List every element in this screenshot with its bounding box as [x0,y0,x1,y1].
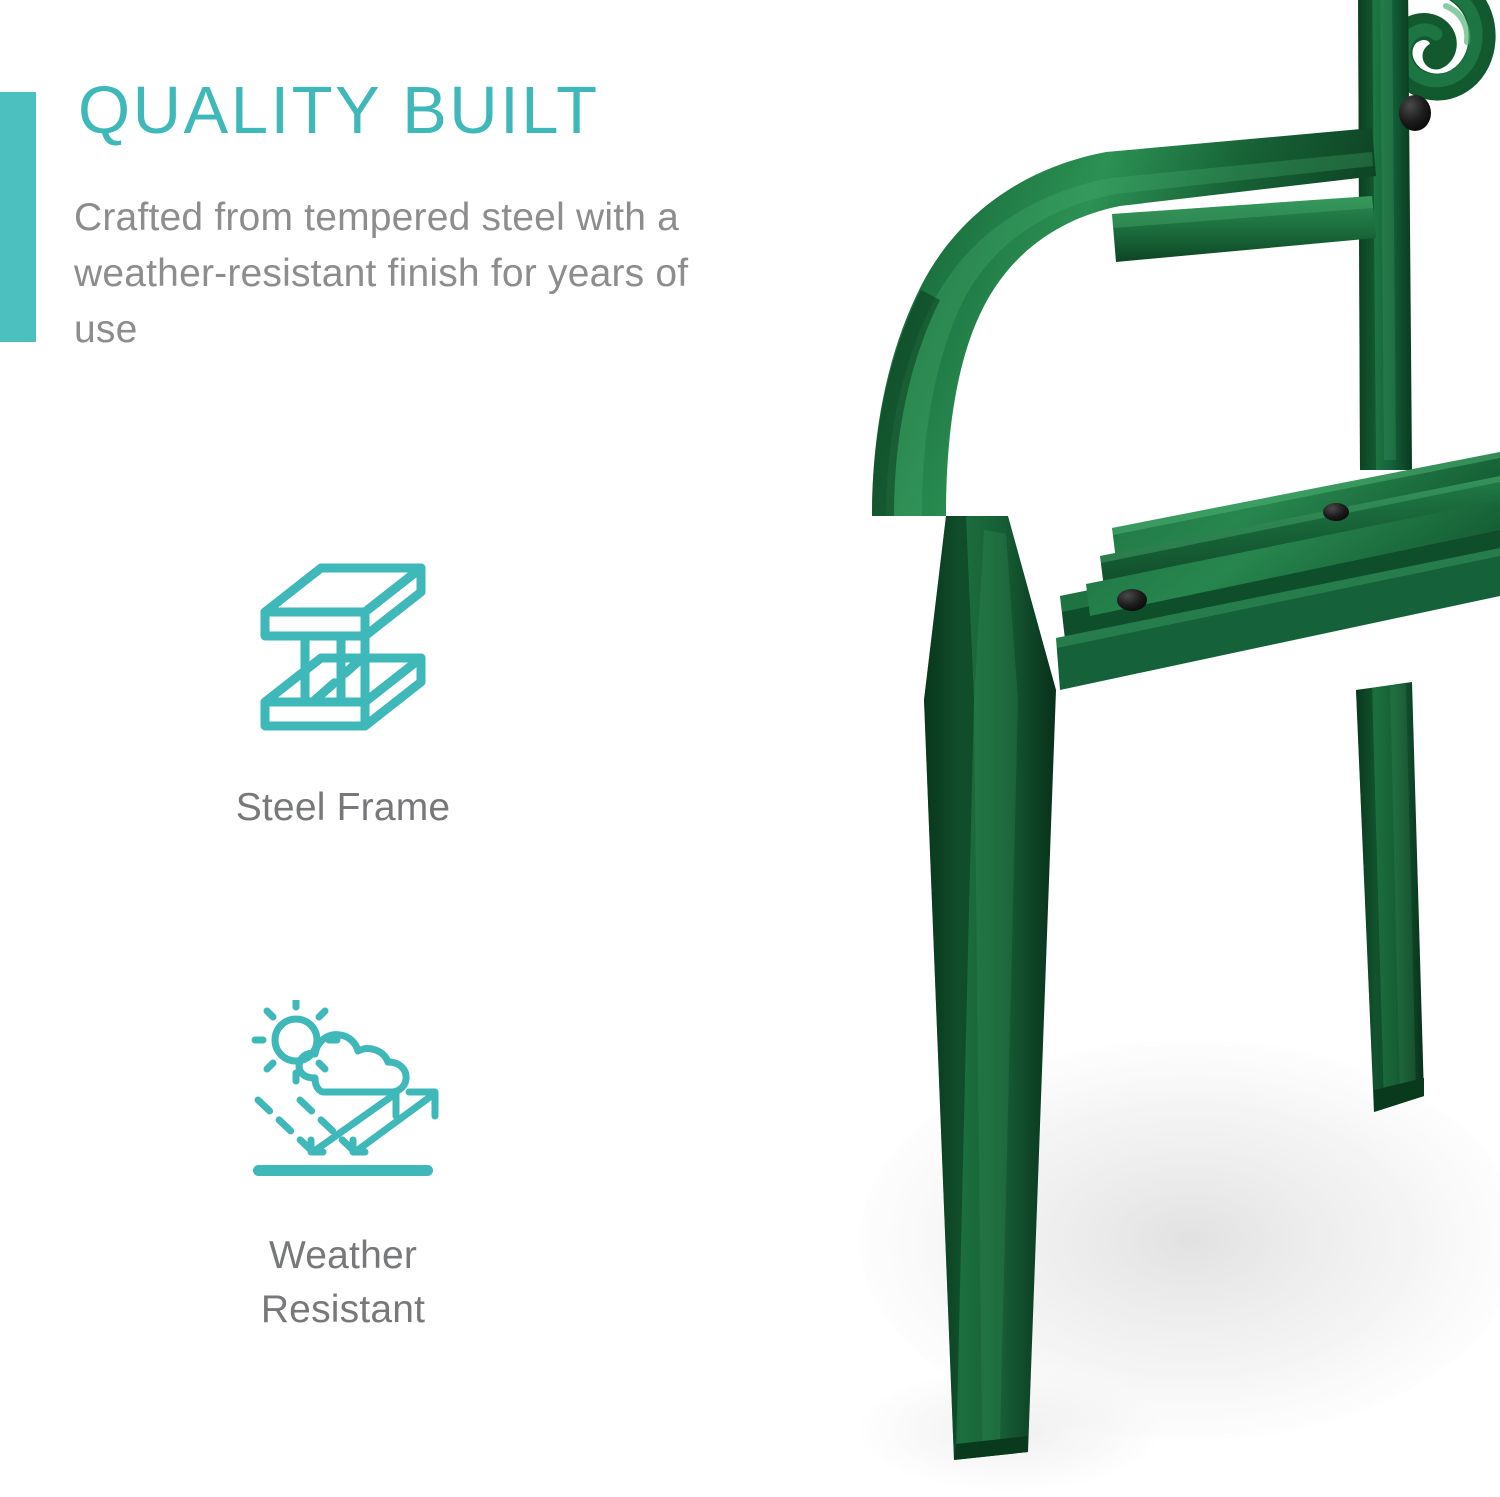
product-photo [760,0,1500,1497]
infographic-page: QUALITY BUILT Crafted from tempered stee… [0,0,1500,1497]
bolt [1323,503,1349,521]
feature-steel-frame-label: Steel Frame [133,781,553,835]
accent-bar [0,92,36,342]
feature-weather-resistant-label: Weather Resistant [133,1229,553,1337]
weather-resistant-icon [133,1000,553,1195]
feature-weather-resistant: Weather Resistant [133,1000,553,1337]
page-title: QUALITY BUILT [78,72,718,150]
bolt [1399,95,1431,131]
page-subtitle: Crafted from tempered steel with a weath… [74,190,734,358]
steel-beam-icon [133,552,553,747]
bolt [1117,589,1147,611]
scroll-ornament [1399,0,1482,87]
feature-steel-frame: Steel Frame [133,552,553,835]
